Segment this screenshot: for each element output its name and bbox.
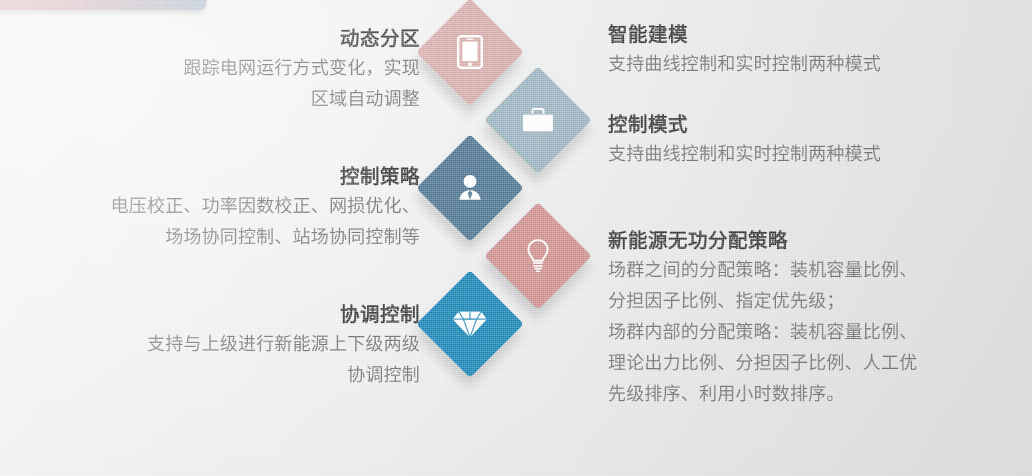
gem-diamond-icon xyxy=(432,286,508,362)
feature-line: 场场协同控制、站场协同控制等 xyxy=(0,222,420,253)
feature-title: 协调控制 xyxy=(0,302,420,328)
feature-block-coordinated-control: 协调控制 支持与上级进行新能源上下级两级 协调控制 xyxy=(0,302,420,391)
feature-title: 智能建模 xyxy=(608,22,1032,48)
feature-title: 控制策略 xyxy=(0,164,420,190)
feature-block-intelligent-modeling: 智能建模 支持曲线控制和实时控制两种模式 xyxy=(608,22,1032,80)
briefcase-icon xyxy=(500,82,576,158)
feature-line: 场群之间的分配策略：装机容量比例、 xyxy=(608,255,1032,286)
feature-title: 动态分区 xyxy=(0,26,420,52)
feature-title: 新能源无功分配策略 xyxy=(608,228,1032,254)
feature-line: 分担因子比例、指定优先级； xyxy=(608,286,1032,317)
diamond-tile-gem[interactable] xyxy=(416,270,523,377)
feature-line: 电压校正、功率因数校正、网损优化、 xyxy=(0,191,420,222)
feature-line: 场群内部的分配策略：装机容量比例、 xyxy=(608,317,1032,348)
user-person-icon xyxy=(432,150,508,226)
feature-block-dynamic-partition: 动态分区 跟踪电网运行方式变化，实现 区域自动调整 xyxy=(0,26,420,115)
feature-line: 支持曲线控制和实时控制两种模式 xyxy=(608,49,1032,80)
feature-line: 先级排序、利用小时数排序。 xyxy=(608,379,1032,410)
feature-line: 协调控制 xyxy=(0,360,420,391)
feature-line: 支持与上级进行新能源上下级两级 xyxy=(0,329,420,360)
infographic-slide: 动态分区 跟踪电网运行方式变化，实现 区域自动调整 控制策略 电压校正、功率因数… xyxy=(0,0,1032,476)
smartphone-icon xyxy=(432,14,508,90)
feature-line: 支持曲线控制和实时控制两种模式 xyxy=(608,139,1032,170)
feature-block-renewable-reactive-allocation: 新能源无功分配策略 场群之间的分配策略：装机容量比例、 分担因子比例、指定优先级… xyxy=(608,228,1032,410)
feature-block-control-mode: 控制模式 支持曲线控制和实时控制两种模式 xyxy=(608,112,1032,170)
feature-title: 控制模式 xyxy=(608,112,1032,138)
top-left-gradient-bar xyxy=(0,0,206,10)
feature-line: 理论出力比例、分担因子比例、人工优 xyxy=(608,348,1032,379)
feature-line: 区域自动调整 xyxy=(0,84,420,115)
feature-line: 跟踪电网运行方式变化，实现 xyxy=(0,53,420,84)
feature-block-control-strategy: 控制策略 电压校正、功率因数校正、网损优化、 场场协同控制、站场协同控制等 xyxy=(0,164,420,253)
lightbulb-icon xyxy=(500,218,576,294)
